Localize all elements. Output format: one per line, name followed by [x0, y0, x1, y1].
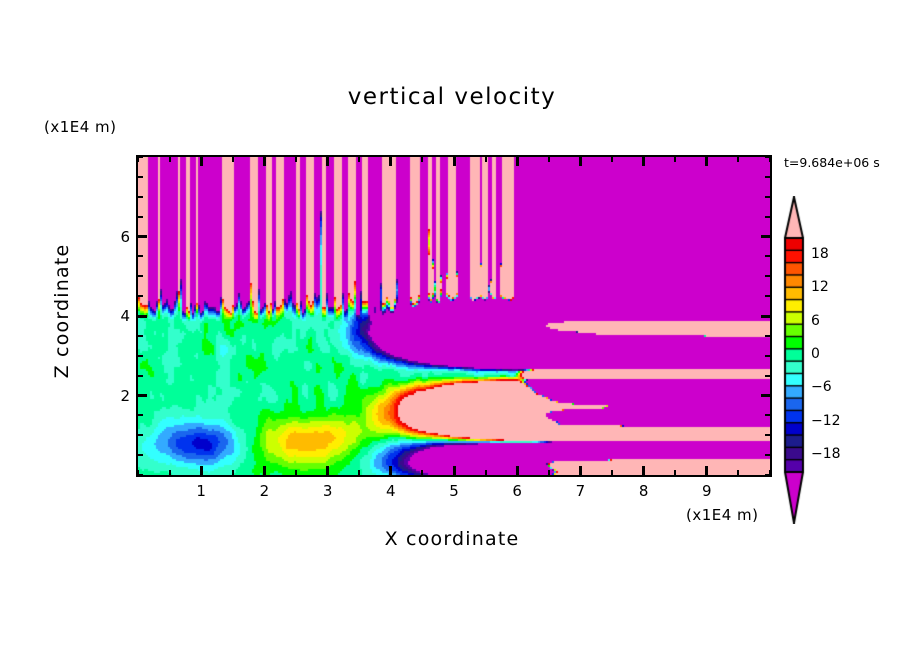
x-tick-label: 8 — [629, 482, 659, 500]
x-tick — [548, 470, 550, 475]
x-tick-top — [485, 157, 487, 162]
z-tick — [138, 235, 147, 238]
z-tick-right — [761, 315, 770, 318]
x-tick-top — [705, 157, 708, 166]
x-tick — [389, 466, 392, 475]
x-tick-top — [169, 157, 171, 162]
colorbar-tick-label: −18 — [811, 446, 841, 462]
x-tick-top — [453, 157, 456, 166]
x-tick — [642, 466, 645, 475]
chart-title: vertical velocity — [0, 84, 904, 110]
x-tick — [200, 466, 203, 475]
x-tick — [705, 466, 708, 475]
x-tick-top — [548, 157, 550, 162]
z-tick-label: 6 — [104, 228, 130, 246]
chart-root: vertical velocity (x1E4 m) (x1E4 m) t=9.… — [0, 0, 904, 654]
x-tick — [611, 470, 613, 475]
colorbar-tick-label: 0 — [811, 346, 820, 362]
z-tick-right — [765, 335, 770, 337]
colorbar-tick-label: 12 — [811, 279, 829, 295]
z-tick — [138, 434, 143, 436]
x-tick — [263, 466, 266, 475]
x-tick — [485, 470, 487, 475]
colorbar — [783, 196, 805, 524]
x-tick-top — [674, 157, 676, 162]
x-tick-top — [326, 157, 329, 166]
x-tick-top — [737, 157, 739, 162]
z-tick-right — [765, 156, 770, 158]
colorbar-tick-label: 6 — [811, 313, 820, 329]
x-tick-top — [579, 157, 582, 166]
z-tick-right — [765, 454, 770, 456]
z-tick — [138, 454, 143, 456]
x-tick-top — [295, 157, 297, 162]
x-tick — [358, 470, 360, 475]
x-tick — [516, 466, 519, 475]
x-tick-top — [232, 157, 234, 162]
x-tick — [326, 466, 329, 475]
x-tick — [579, 466, 582, 475]
z-tick-label: 2 — [104, 387, 130, 405]
z-tick-right — [765, 255, 770, 257]
x-tick-top — [358, 157, 360, 162]
z-tick — [138, 156, 143, 158]
z-tick-label: 4 — [104, 307, 130, 325]
x-tick-label: 5 — [439, 482, 469, 500]
z-tick-right — [765, 196, 770, 198]
x-tick — [453, 466, 456, 475]
x-tick-label: 7 — [565, 482, 595, 500]
colorbar-tick-label: 18 — [811, 246, 829, 262]
z-tick-right — [765, 434, 770, 436]
z-tick-right — [765, 474, 770, 476]
x-tick — [169, 470, 171, 475]
x-tick — [674, 470, 676, 475]
z-tick-right — [765, 355, 770, 357]
z-tick-right — [765, 295, 770, 297]
y-axis-title: Z coordinate — [51, 211, 73, 411]
z-tick — [138, 255, 143, 257]
x-tick-top — [421, 157, 423, 162]
z-tick — [138, 216, 143, 218]
y-axis-unit-label: (x1E4 m) — [44, 118, 117, 136]
z-tick-right — [765, 216, 770, 218]
z-tick — [138, 176, 143, 178]
x-tick — [232, 470, 234, 475]
contour-plot-area — [136, 155, 772, 477]
z-tick — [138, 196, 143, 198]
colorbar-gradient — [783, 196, 805, 524]
x-tick — [295, 470, 297, 475]
x-axis-title: X coordinate — [0, 528, 904, 550]
vertical-velocity-field — [138, 157, 770, 475]
z-tick-right — [765, 414, 770, 416]
z-tick — [138, 315, 147, 318]
x-tick — [421, 470, 423, 475]
z-tick — [138, 394, 147, 397]
x-tick-label: 1 — [186, 482, 216, 500]
x-tick — [737, 470, 739, 475]
timestamp-annotation: t=9.684e+06 s — [784, 155, 880, 170]
z-tick — [138, 335, 143, 337]
x-tick-top — [642, 157, 645, 166]
z-tick-right — [761, 235, 770, 238]
z-tick — [138, 474, 143, 476]
z-tick-right — [765, 176, 770, 178]
colorbar-tick-label: −12 — [811, 413, 841, 429]
x-axis-unit-label: (x1E4 m) — [686, 506, 759, 524]
colorbar-tick-label: −6 — [811, 379, 832, 395]
z-tick-right — [765, 375, 770, 377]
x-tick-top — [516, 157, 519, 166]
z-tick — [138, 414, 143, 416]
x-tick-top — [263, 157, 266, 166]
z-tick — [138, 375, 143, 377]
x-tick-label: 4 — [376, 482, 406, 500]
x-tick-top — [611, 157, 613, 162]
x-tick-label: 2 — [249, 482, 279, 500]
x-tick-label: 6 — [502, 482, 532, 500]
z-tick-right — [761, 394, 770, 397]
z-tick — [138, 295, 143, 297]
x-tick-label: 3 — [313, 482, 343, 500]
z-tick — [138, 355, 143, 357]
x-tick-top — [389, 157, 392, 166]
z-tick-right — [765, 275, 770, 277]
x-tick-label: 9 — [692, 482, 722, 500]
z-tick — [138, 275, 143, 277]
x-tick-top — [200, 157, 203, 166]
